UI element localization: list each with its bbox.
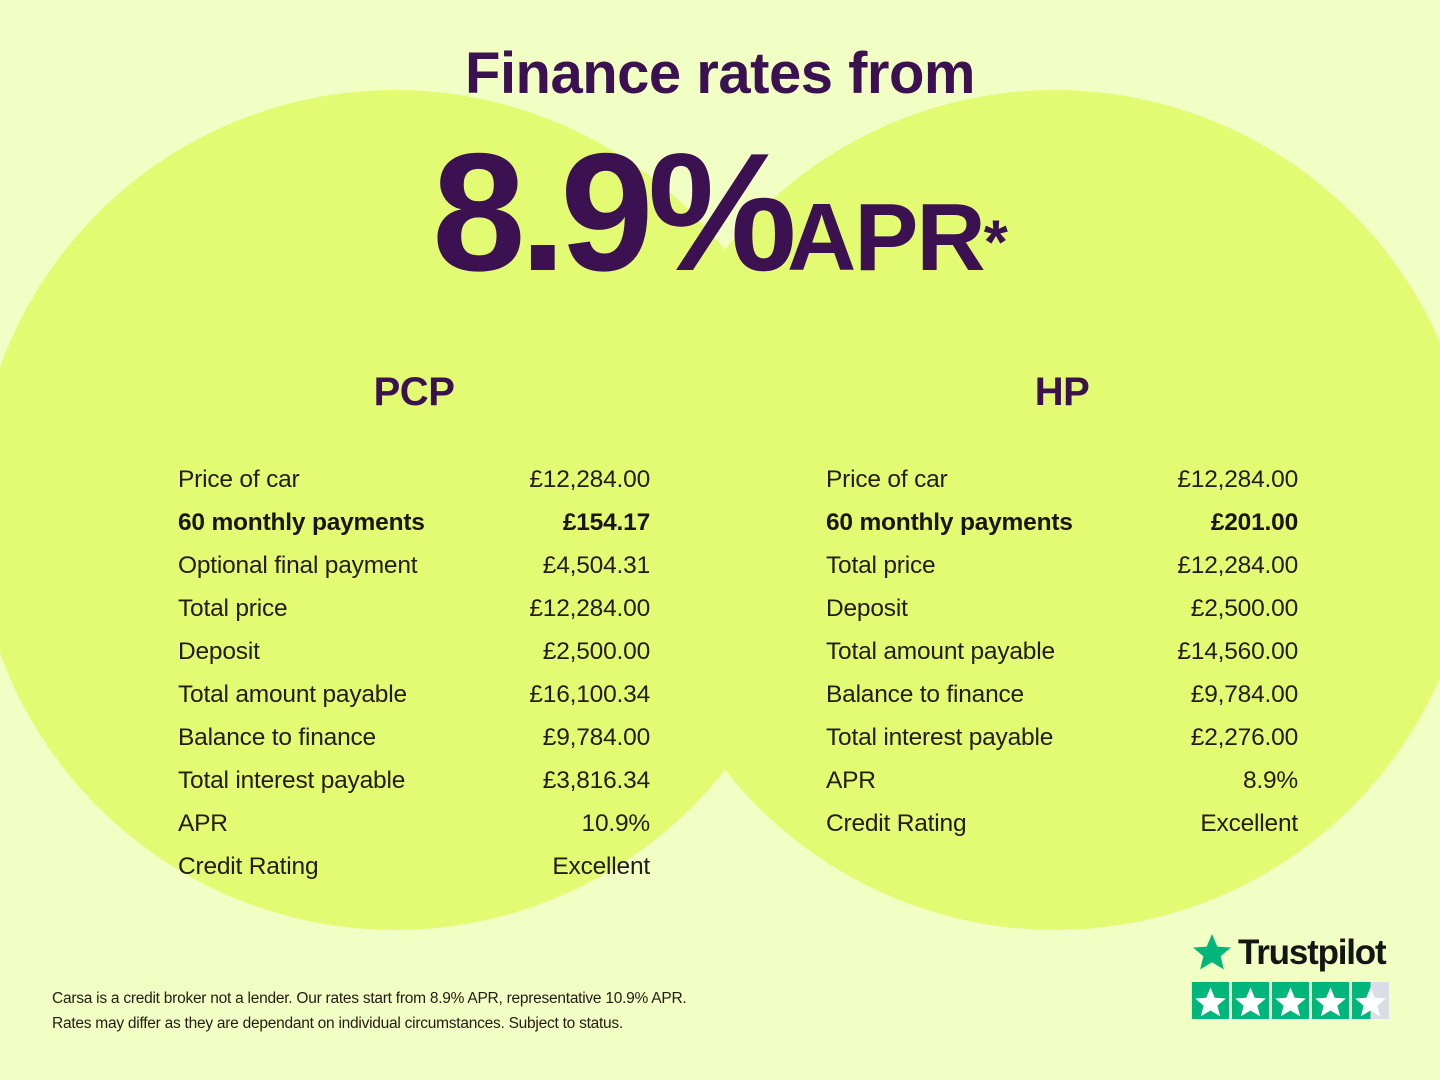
hero-asterisk: * (984, 209, 1008, 278)
row-value: £154.17 (414, 501, 650, 544)
row-label: Total price (178, 587, 414, 630)
table-row: Balance to finance£9,784.00 (178, 716, 650, 759)
disclaimer-line-2: Rates may differ as they are dependant o… (52, 1011, 812, 1036)
column-title-hp: HP (826, 372, 1298, 412)
finance-column-pcp: PCP Price of car£12,284.0060 monthly pay… (178, 372, 650, 888)
row-value: £2,500.00 (1062, 587, 1298, 630)
row-label: Total amount payable (826, 630, 1062, 673)
row-label: Deposit (826, 587, 1062, 630)
disclaimer-line-1: Carsa is a credit broker not a lender. O… (52, 986, 812, 1011)
row-value: £12,284.00 (414, 587, 650, 630)
rates-table-hp: Price of car£12,284.0060 monthly payment… (826, 458, 1298, 845)
table-row: Total amount payable£14,560.00 (826, 630, 1298, 673)
row-value: £201.00 (1062, 501, 1298, 544)
row-label: Balance to finance (178, 716, 414, 759)
row-value: £9,784.00 (414, 716, 650, 759)
row-value: 10.9% (414, 802, 650, 845)
row-label: 60 monthly payments (178, 501, 414, 544)
hero-rate: 8.9%APR* (0, 128, 1440, 296)
row-label: Total interest payable (178, 759, 414, 802)
star-icon-half (1352, 982, 1389, 1019)
row-value: £2,500.00 (414, 630, 650, 673)
row-label: Optional final payment (178, 544, 414, 587)
table-row: Credit RatingExcellent (826, 802, 1298, 845)
row-label: Credit Rating (178, 845, 414, 888)
table-row: Balance to finance£9,784.00 (826, 673, 1298, 716)
trustpilot-star-rating (1192, 982, 1392, 1019)
trustpilot-widget[interactable]: Trustpilot (1192, 930, 1392, 1019)
row-value: 8.9% (1062, 759, 1298, 802)
star-icon-filled (1232, 982, 1269, 1019)
table-row: Total price£12,284.00 (178, 587, 650, 630)
row-label: Price of car (826, 458, 1062, 501)
table-row: Total price£12,284.00 (826, 544, 1298, 587)
row-label: APR (826, 759, 1062, 802)
trustpilot-star-icon (1192, 933, 1232, 971)
page-title: Finance rates from (0, 44, 1440, 105)
table-row: 60 monthly payments£201.00 (826, 501, 1298, 544)
row-value: Excellent (1062, 802, 1298, 845)
row-value: £3,816.34 (414, 759, 650, 802)
disclaimer: Carsa is a credit broker not a lender. O… (52, 986, 812, 1036)
row-value: £4,504.31 (414, 544, 650, 587)
row-label: Deposit (178, 630, 414, 673)
row-value: £16,100.34 (414, 673, 650, 716)
table-row: Credit RatingExcellent (178, 845, 650, 888)
table-row: 60 monthly payments£154.17 (178, 501, 650, 544)
trustpilot-name: Trustpilot (1238, 935, 1385, 970)
hero-rate-value: 8.9% (432, 118, 791, 306)
row-value: £12,284.00 (414, 458, 650, 501)
rates-table-pcp: Price of car£12,284.0060 monthly payment… (178, 458, 650, 888)
row-label: 60 monthly payments (826, 501, 1062, 544)
table-row: APR10.9% (178, 802, 650, 845)
finance-column-hp: HP Price of car£12,284.0060 monthly paym… (826, 372, 1298, 845)
column-title-pcp: PCP (178, 372, 650, 412)
star-icon-filled (1312, 982, 1349, 1019)
row-label: Price of car (178, 458, 414, 501)
table-row: Optional final payment£4,504.31 (178, 544, 650, 587)
row-value: Excellent (414, 845, 650, 888)
row-value: £12,284.00 (1062, 544, 1298, 587)
hero-apr-label: APR (787, 184, 984, 291)
star-icon-filled (1192, 982, 1229, 1019)
table-row: Deposit£2,500.00 (826, 587, 1298, 630)
table-row: Total amount payable£16,100.34 (178, 673, 650, 716)
row-label: Total amount payable (178, 673, 414, 716)
row-value: £2,276.00 (1062, 716, 1298, 759)
star-icon-filled (1272, 982, 1309, 1019)
table-row: Deposit£2,500.00 (178, 630, 650, 673)
row-value: £9,784.00 (1062, 673, 1298, 716)
row-label: APR (178, 802, 414, 845)
table-row: APR8.9% (826, 759, 1298, 802)
table-row: Total interest payable£3,816.34 (178, 759, 650, 802)
row-value: £12,284.00 (1062, 458, 1298, 501)
table-row: Price of car£12,284.00 (178, 458, 650, 501)
trustpilot-wordmark: Trustpilot (1192, 930, 1392, 974)
row-label: Total price (826, 544, 1062, 587)
row-label: Total interest payable (826, 716, 1062, 759)
table-row: Total interest payable£2,276.00 (826, 716, 1298, 759)
row-label: Balance to finance (826, 673, 1062, 716)
table-row: Price of car£12,284.00 (826, 458, 1298, 501)
row-label: Credit Rating (826, 802, 1062, 845)
row-value: £14,560.00 (1062, 630, 1298, 673)
